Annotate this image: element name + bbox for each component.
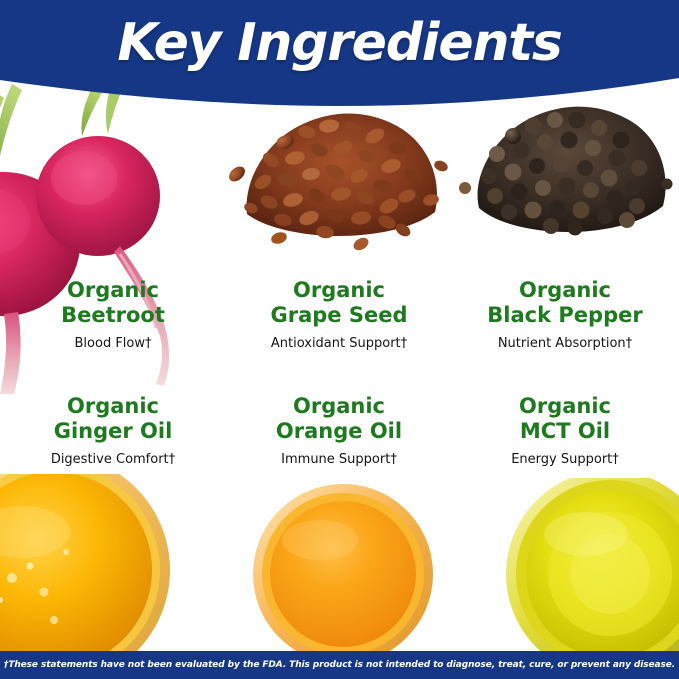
ingredient-label-black-pepper: Organic Black Pepper Nutrient Absorption… [452,278,678,352]
ingredient-name-ginger-oil: Organic Ginger Oil [0,394,226,444]
ingredient-name-orange-oil: Organic Orange Oil [226,394,452,444]
ingredient-benefit-beetroot: Blood Flow† [0,335,226,352]
ingredient-benefit-mct-oil: Energy Support† [452,451,678,468]
ingredient-label-beetroot: Organic Beetroot Blood Flow† [0,278,226,352]
black-pepper-photo [455,92,679,257]
page-title: Key Ingredients [0,14,679,72]
ingredient-name-black-pepper: Organic Black Pepper [452,278,678,328]
ingredient-label-ginger-oil: Organic Ginger Oil Digestive Comfort† [0,394,226,468]
ingredient-benefit-black-pepper: Nutrient Absorption† [452,335,678,352]
orange-oil-photo [248,482,438,660]
footer-disclaimer-text: †These statements have not been evaluate… [4,660,675,670]
ingredient-benefit-grape-seed: Antioxidant Support† [226,335,452,352]
ingredient-name-beetroot: Organic Beetroot [0,278,226,328]
ingredient-name-mct-oil: Organic MCT Oil [452,394,678,444]
ingredient-benefit-orange-oil: Immune Support† [226,451,452,468]
ginger-oil-photo [0,474,204,660]
ingredient-label-orange-oil: Organic Orange Oil Immune Support† [226,394,452,468]
ingredient-benefit-ginger-oil: Digestive Comfort† [0,451,226,468]
grape-seed-photo [225,96,455,261]
ingredient-name-grape-seed: Organic Grape Seed [226,278,452,328]
ingredient-label-grape-seed: Organic Grape Seed Antioxidant Support† [226,278,452,352]
ingredient-label-mct-oil: Organic MCT Oil Energy Support† [452,394,678,468]
mct-oil-photo [500,478,679,660]
key-ingredients-infographic: Key Ingredients Organic Beetroot Blood F… [0,0,679,679]
footer-disclaimer-bar: †These statements have not been evaluate… [0,651,679,679]
